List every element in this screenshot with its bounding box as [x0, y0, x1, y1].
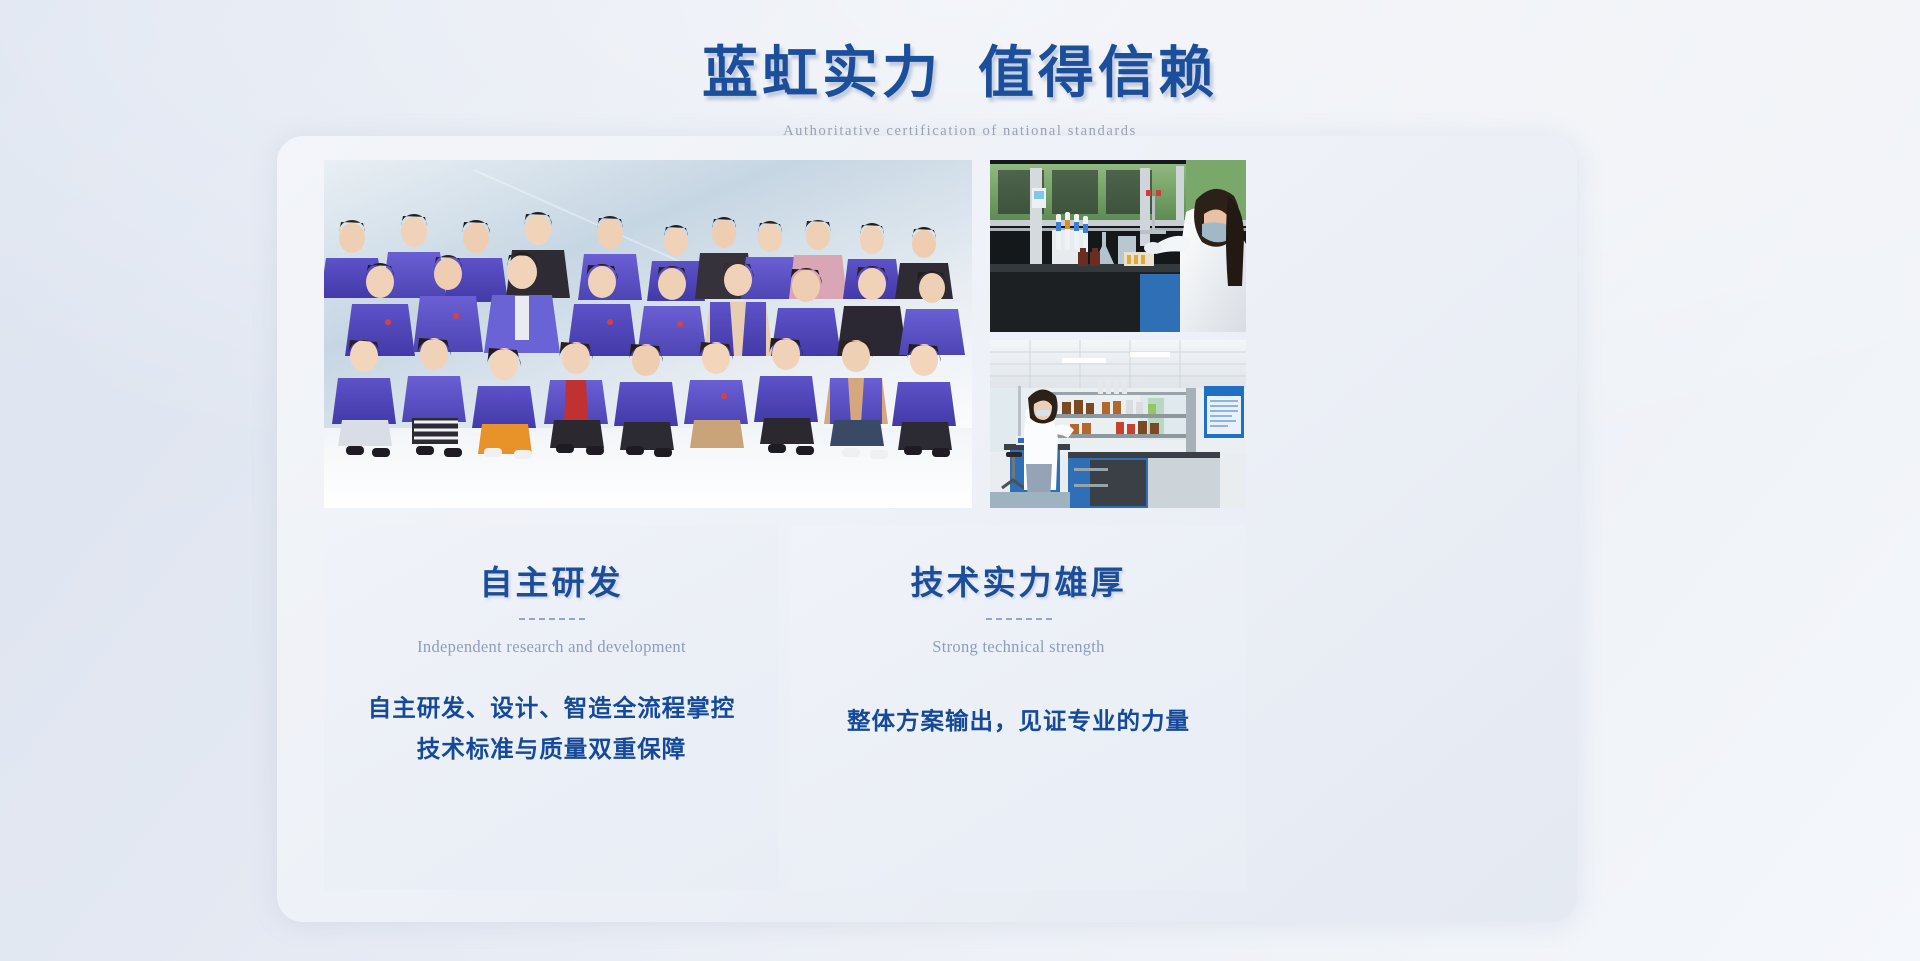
feature-card-technical-strength: 技术实力雄厚 Strong technical strength 整体方案输出，…: [791, 525, 1246, 890]
feature-card-independent-rd: 自主研发 Independent research and developmen…: [324, 525, 779, 890]
card-body-text: 整体方案输出，见证专业的力量: [791, 702, 1246, 743]
card-title: 技术实力雄厚: [791, 556, 1246, 604]
lab-technician-pipettes-photo: [990, 160, 1246, 332]
card-title: 自主研发: [324, 556, 779, 604]
page-header: 蓝虹实力 值得信赖 Authoritative certification of…: [0, 0, 1920, 136]
laboratory-room-photo: [990, 340, 1246, 508]
dotted-divider: [324, 618, 779, 620]
team-group-photo: [324, 160, 972, 508]
card-subtitle: Independent research and development: [324, 637, 779, 657]
card-subtitle: Strong technical strength: [791, 637, 1246, 657]
content-panel: 自主研发 Independent research and developmen…: [277, 136, 1577, 922]
card-body-text: 自主研发、设计、智造全流程掌控 技术标准与质量双重保障: [324, 689, 779, 771]
page-title: 蓝虹实力 值得信赖: [0, 28, 1920, 109]
dotted-divider: [791, 618, 1246, 620]
